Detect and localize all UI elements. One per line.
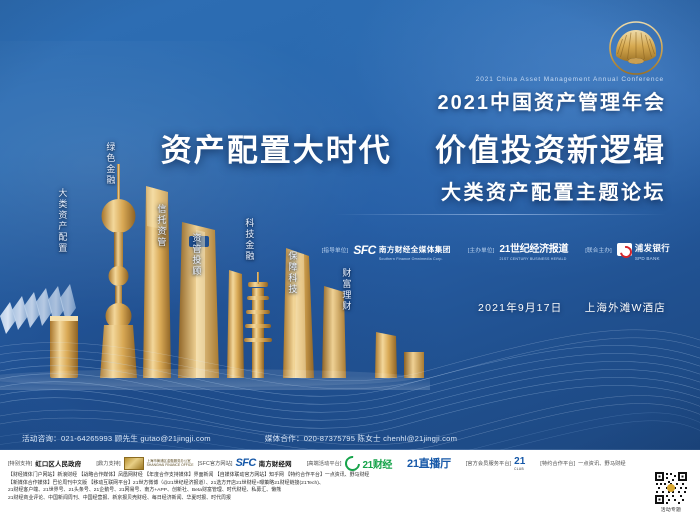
footer-name-3: 21财经 [363,456,393,471]
title-divider [334,214,666,215]
live-21-icon: 21直播厅 [407,455,451,471]
sponsor-name-en-1: 21ST CENTURY BUSINESS HERALD [499,257,568,261]
herald-logo: 21世纪经济报道 21ST CENTURY BUSINESS HERALD [499,239,568,261]
sponsor-name-2: 浦发银行 [635,243,670,253]
gold-emblem-icon [124,457,144,470]
contact-media: 媒体合作：020-87375795 陈女士 chenhl@21jingji.co… [265,433,457,444]
footer-partner-0[interactable]: [特别支持] 虹口区人民政府 [8,459,81,468]
sponsor-name-0: 南方财经全媒体集团 [379,245,451,254]
contact-band: 活动咨询：021-64265993 顾先生 gutao@21jingji.com… [0,429,700,447]
sponsor-tag-2: [联合主办] [585,246,612,254]
footer-tag-1: [鼎力支持] [96,460,120,467]
footer-partner-5[interactable]: [官方会员服务平台] 21CLUB [466,456,526,471]
footer-name-0: 虹口区人民政府 [35,459,81,468]
qr-code-icon[interactable] [654,471,688,505]
title-right: 价值投资新逻辑 [435,133,666,168]
shell-logo-icon [608,20,664,76]
conference-title-cn: 2021中国资产管理年会 [438,86,667,115]
skyline-label-4: 科技金融 [243,218,253,262]
sponsor-name-1: 21世纪经济报道 [499,244,568,255]
sfc-logo: SFC 南方财经全媒体集团 Southern Finance Omnimedia… [353,239,450,261]
qr-caption: 活动专题 [650,506,692,513]
title-left: 资产配置大时代 [161,133,392,168]
footer-tag-5: [官方会员服务平台] [466,460,511,467]
sponsor-guidance: [指导单位] SFC 南方财经全媒体集团 Southern Finance Om… [322,239,451,261]
sponsor-name-en-2: SPD BANK [635,256,670,261]
qr-code-block[interactable]: 活动专题 [650,471,692,513]
skyline-label-6: 财富理财 [340,268,350,312]
event-date: 2021年9月17日 [478,302,562,314]
footer-logo-row: [特别支持] 虹口区人民政府 [鼎力支持] 上海市黄浦区金融服务办公室SHANG… [0,450,700,471]
date-venue-line: 2021年9月17日 上海外滩W酒店 [478,300,666,315]
sfc-mark-label: SFC [353,243,376,257]
contact-activity: 活动咨询：021-64265993 顾先生 gutao@21jingji.com [22,433,211,444]
sponsor-organizer: [主办单位] 21世纪经济报道 21ST CENTURY BUSINESS HE… [468,239,568,261]
footer-partner-3[interactable]: [高端活动平台] 21财经 [307,456,392,471]
skyline-label-3: 资管投顾 [190,233,200,277]
footer-row-0: 【财经媒体门户网站】新浪财经 【战略合作媒体】凤凰网财经 【年度合作支持媒体】界… [8,472,692,480]
footer-partner-1[interactable]: [鼎力支持] 上海市黄浦区金融服务办公室SHANGHAI FINANCE OFF… [96,457,182,470]
footer-tag-0: [特别支持] [8,460,32,467]
page-subtitle: 大类资产配置主题论坛 [441,176,666,205]
conference-poster: 大类资产配置 绿色金融 信托资管 资管投顾 科技金融 保障科技 财富理财 [0,0,700,516]
green-21-icon [341,452,362,473]
skyline-label-0: 大类资产配置 [56,188,66,254]
sfc-icon: SFC [236,457,256,469]
sponsor-name-en-0: Southern Finance Omnimedia Corp. [379,257,451,261]
page-title: 资产配置大时代 价值投资新逻辑 [161,125,666,170]
sponsor-tag-1: [主办单位] [468,246,495,254]
club-21-icon: 21CLUB [514,456,525,471]
footer-row-3: 21财经客户端、21世界号、21头条号、21企鹅号、21网易号、南方+APP、创… [8,487,692,495]
footer-fineprint: 【财经媒体门户网站】新浪财经 【战略合作媒体】凤凰网财经 【年度合作支持媒体】界… [0,471,700,502]
footer-name-1: 上海市黄浦区金融服务办公室SHANGHAI FINANCE OFFICE [147,459,183,468]
footer-name-2: 南方财经网 [259,459,292,468]
footer-tag-2: [SFC官方网站] [198,460,233,467]
footer-tag-6: [特约合作平台] [540,460,575,467]
footer-partners-bar: [特别支持] 虹口区人民政府 [鼎力支持] 上海市黄浦区金融服务办公室SHANG… [0,450,700,516]
footer-partner-2[interactable]: [SFC官方网站] SFC 南方财经网 [198,457,292,469]
sponsor-cohost: [联合主办] 浦发银行 SPD BANK [585,238,670,261]
footer-row-2: 21财经商业评论、中国新闻周刊、中国经营报、新京报贝壳财经、每日经济新闻、华夏时… [8,495,692,503]
event-venue: 上海外滩W酒店 [585,302,666,314]
sponsor-tag-0: [指导单位] [322,246,349,254]
footer-row-1: 【新媒体合作媒体】巴伦周刊中文版 【移动互联网平台】21世方微博（@21世纪经济… [8,480,692,488]
spd-bank-logo: 浦发银行 SPD BANK [617,238,670,261]
skyline-label-1: 绿色金融 [104,142,114,186]
conference-subtitle-en: 2021 China Asset Management Annual Confe… [476,76,664,83]
skyline-label-2: 信托资管 [155,204,165,248]
footer-partner-6[interactable]: [特约合作平台] 一点资讯、野马财经 [540,460,625,467]
footer-name-6: 一点资讯、野马财经 [578,460,626,467]
sponsor-strip: [指导单位] SFC 南方财经全媒体集团 Southern Finance Om… [322,238,670,261]
spd-bank-icon [617,243,632,256]
footer-tag-3: [高端活动平台] [307,460,342,467]
footer-partner-4[interactable]: 21直播厅 [407,455,451,471]
skyline-label-5: 保障科技 [286,251,296,295]
